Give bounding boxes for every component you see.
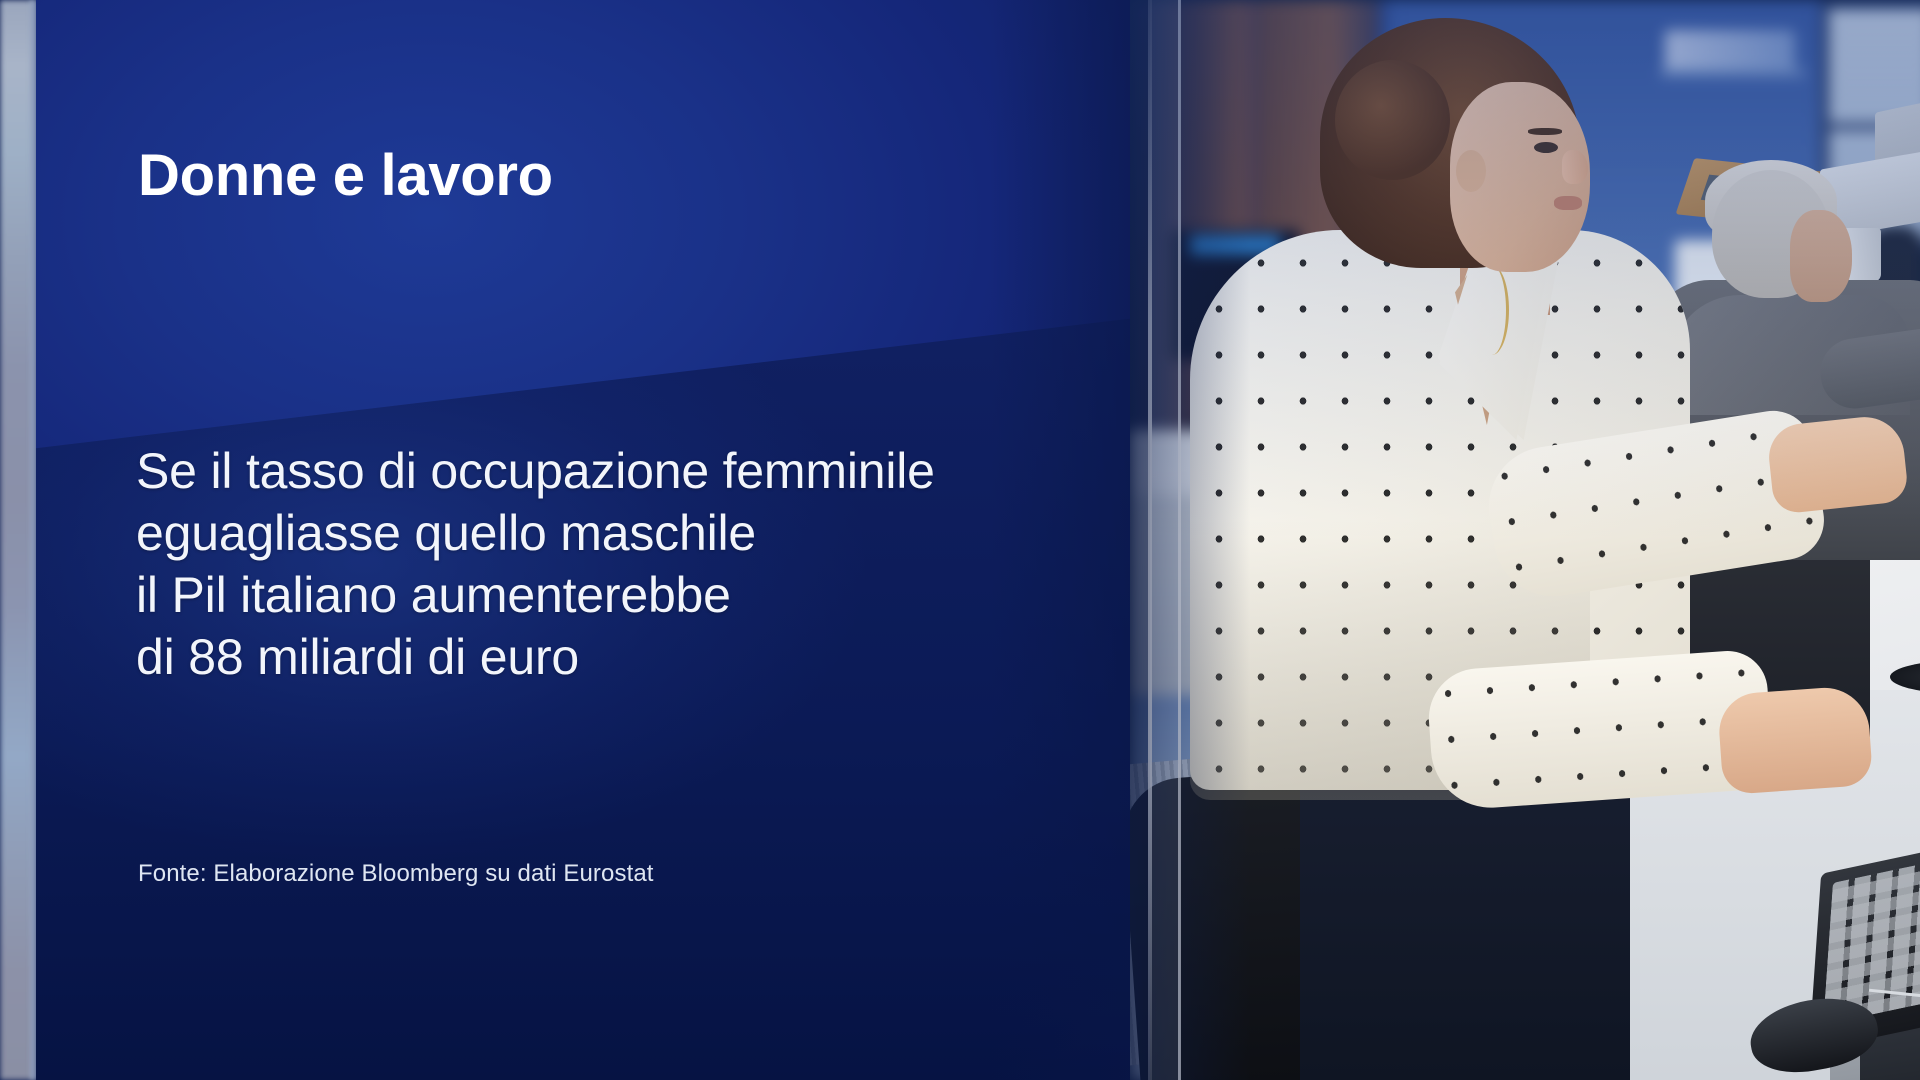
wall-shelf <box>1660 68 1805 78</box>
headline-line-2: eguagliasse quello maschile <box>136 502 935 564</box>
headline-line-1: Se il tasso di occupazione femminile <box>136 440 935 502</box>
text-content: Donne e lavoro Se il tasso di occupazion… <box>36 0 1130 1080</box>
headline-line-4: di 88 miliardi di euro <box>136 626 935 688</box>
man-face <box>1790 210 1852 302</box>
infographic-slide: Donne e lavoro Se il tasso di occupazion… <box>0 0 1920 1080</box>
woman-lips <box>1554 196 1582 210</box>
page-title: Donne e lavoro <box>138 146 553 207</box>
headline-line-3: il Pil italiano aumenterebbe <box>136 564 935 626</box>
source-attribution: Fonte: Elaborazione Bloomberg su dati Eu… <box>138 860 654 888</box>
woman-ear <box>1456 150 1486 192</box>
blue-content-panel: Donne e lavoro Se il tasso di occupazion… <box>36 0 1130 1080</box>
glass-light-streak-1 <box>1148 0 1152 1080</box>
woman-hand-on-mouse <box>1717 685 1874 795</box>
woman-hair-bun <box>1335 60 1450 180</box>
headline-block: Se il tasso di occupazione femminile egu… <box>136 440 935 688</box>
wall-logo <box>1665 30 1795 72</box>
woman-nose <box>1562 150 1588 184</box>
glass-panel <box>1152 0 1180 1080</box>
woman-necklace <box>1475 265 1509 355</box>
glass-edge-shadow <box>1130 0 1150 1080</box>
woman-eye <box>1534 142 1558 153</box>
glass-light-streak-2 <box>1178 0 1181 1080</box>
woman-eyebrow <box>1528 128 1562 135</box>
woman-hand-on-keyboard <box>1766 413 1909 515</box>
office-photo <box>1130 0 1920 1080</box>
